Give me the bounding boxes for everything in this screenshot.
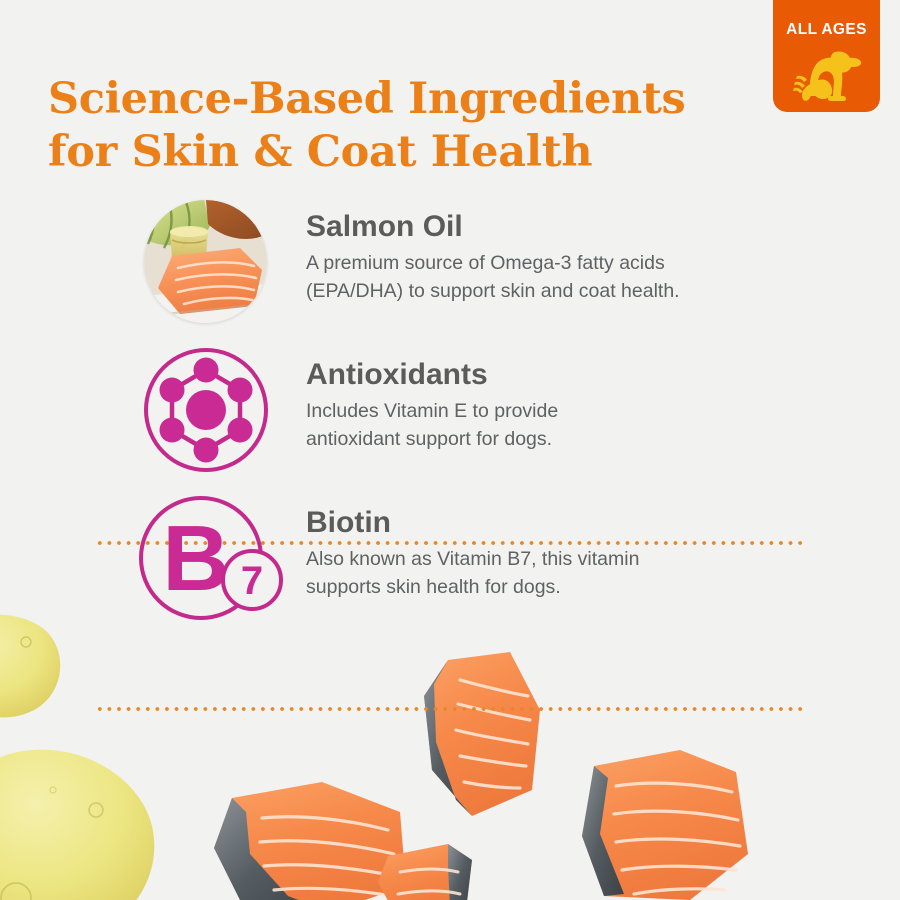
badge-label: ALL AGES <box>773 21 880 39</box>
desc-line: Includes Vitamin E to provide <box>306 398 806 426</box>
page-title-line-2: for Skin & Coat Health <box>48 126 768 179</box>
molecule-icon <box>140 344 272 476</box>
infographic-page: ALL AGES <box>0 0 900 900</box>
ingredient-list: Salmon Oil A premium source of Omega-3 f… <box>0 192 900 636</box>
salmon-oil-icon-wrap <box>132 192 264 324</box>
all-ages-badge: ALL AGES <box>773 0 880 112</box>
desc-line: antioxidant support for dogs. <box>306 426 806 454</box>
antioxidants-text: Antioxidants Includes Vitamin E to provi… <box>306 340 806 453</box>
ingredient-desc-antioxidants: Includes Vitamin E to provide antioxidan… <box>306 398 806 453</box>
ingredient-row-biotin: B 7 Biotin Also known as Vitamin B7, thi… <box>0 488 900 636</box>
vitamin-b7-icon: B 7 <box>138 490 288 626</box>
page-title-line-1: Science-Based Ingredients <box>48 73 768 126</box>
biotin-icon-wrap: B 7 <box>132 488 264 620</box>
salmon-oil-text: Salmon Oil A premium source of Omega-3 f… <box>306 192 806 305</box>
desc-line: (EPA/DHA) to support skin and coat healt… <box>306 278 806 306</box>
salmon-chunks-image <box>210 650 900 900</box>
ingredient-title-antioxidants: Antioxidants <box>306 358 806 391</box>
ingredient-title-biotin: Biotin <box>306 506 806 539</box>
biotin-letter: B <box>162 506 229 610</box>
biotin-number: 7 <box>241 559 263 603</box>
ingredient-title-salmon-oil: Salmon Oil <box>306 210 806 243</box>
desc-line: Also known as Vitamin B7, this vitamin <box>306 546 806 574</box>
ingredient-desc-salmon-oil: A premium source of Omega-3 fatty acids … <box>306 250 806 305</box>
page-title: Science-Based Ingredients for Skin & Coa… <box>48 73 768 179</box>
sitting-dog-icon <box>791 42 863 104</box>
ingredient-desc-biotin: Also known as Vitamin B7, this vitamin s… <box>306 546 806 601</box>
biotin-text: Biotin Also known as Vitamin B7, this vi… <box>306 488 806 601</box>
oil-droplet-large-icon <box>0 748 168 900</box>
salmon-oil-photo <box>144 200 267 323</box>
antioxidants-icon-wrap <box>132 340 264 472</box>
ingredient-row-antioxidants: Antioxidants Includes Vitamin E to provi… <box>0 340 900 488</box>
ingredient-row-salmon-oil: Salmon Oil A premium source of Omega-3 f… <box>0 192 900 340</box>
desc-line: A premium source of Omega-3 fatty acids <box>306 250 806 278</box>
divider-2 <box>95 707 805 711</box>
desc-line: supports skin health for dogs. <box>306 574 806 602</box>
